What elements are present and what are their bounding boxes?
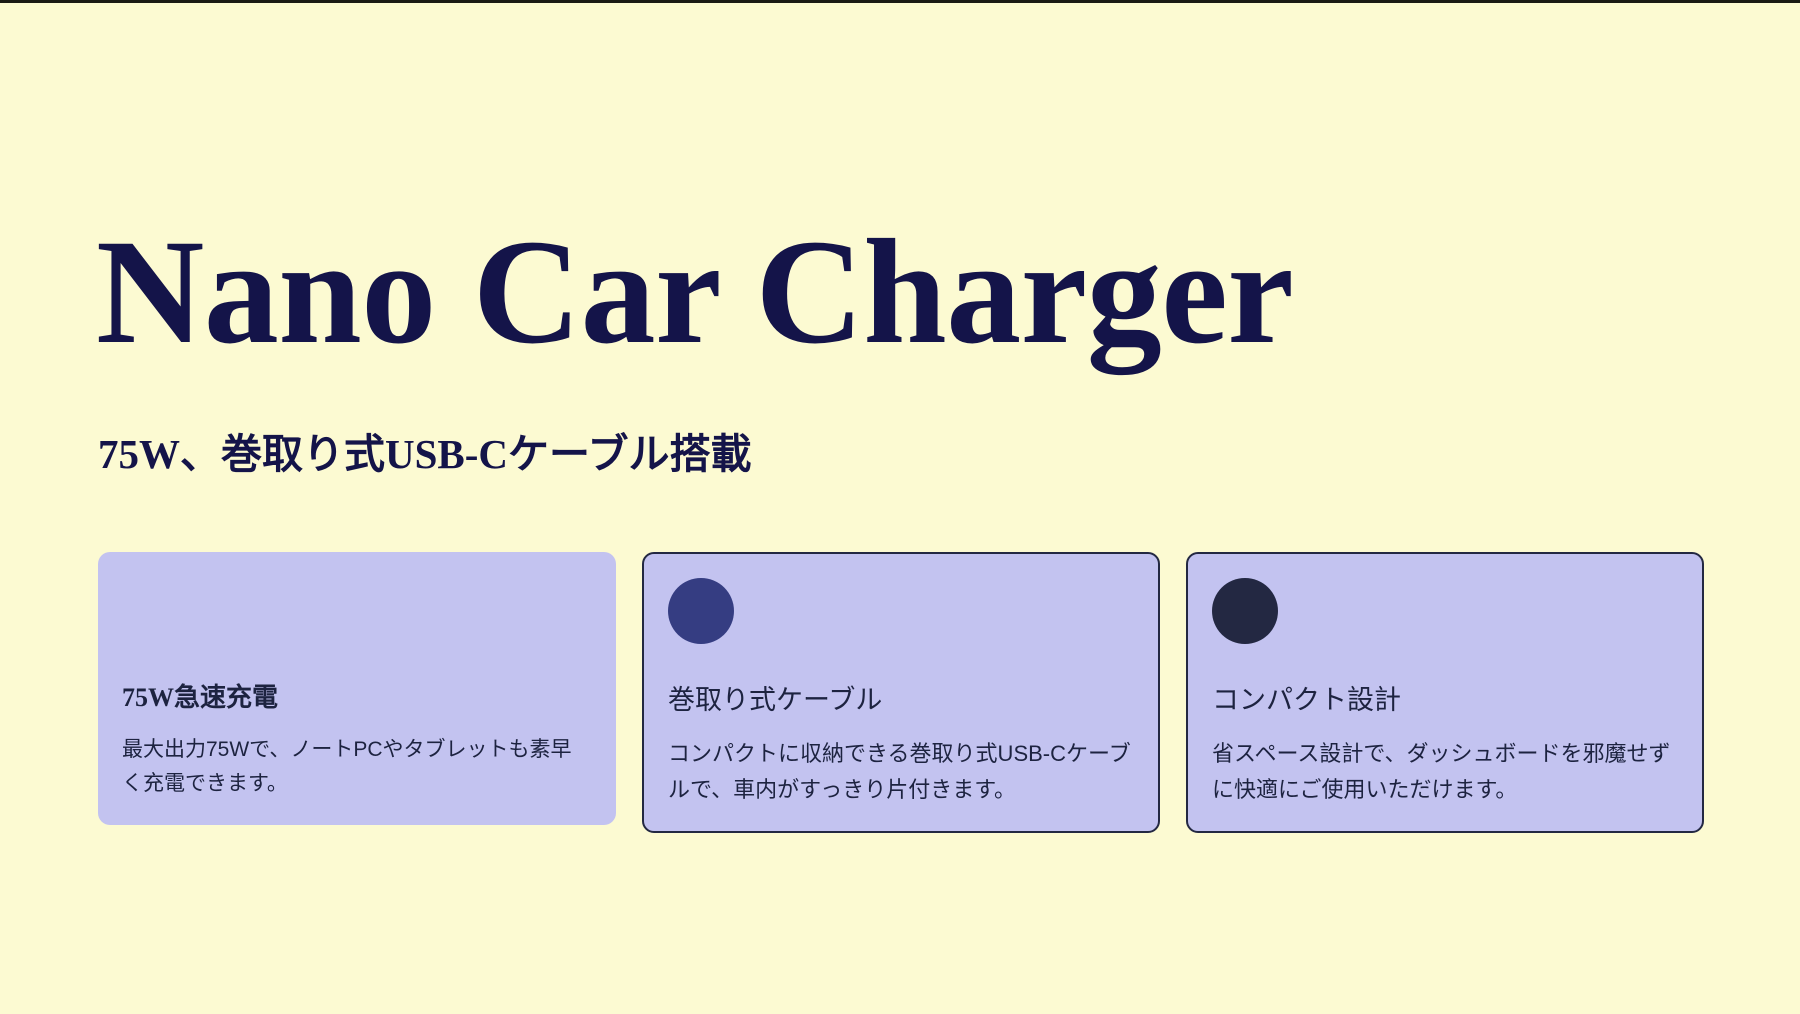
- feature-card-title: 巻取り式ケーブル: [668, 683, 1134, 718]
- feature-card-description: コンパクトに収納できる巻取り式USB-Cケーブルで、車内がすっきり片付きます。: [668, 736, 1134, 807]
- circle-icon: [1212, 578, 1278, 644]
- circle-icon: [668, 578, 734, 644]
- feature-card-title: コンパクト設計: [1212, 683, 1678, 718]
- page-title: Nano Car Charger: [96, 217, 1293, 367]
- feature-card-title: 75W急速充電: [122, 681, 592, 715]
- feature-card-list: 75W急速充電 最大出力75Wで、ノートPCやタブレットも素早く充電できます。 …: [98, 552, 1704, 833]
- feature-card-fast-charging[interactable]: 75W急速充電 最大出力75Wで、ノートPCやタブレットも素早く充電できます。: [98, 552, 616, 825]
- product-landing-page: Nano Car Charger 75W、巻取り式USB-Cケーブル搭載 75W…: [0, 3, 1800, 1014]
- feature-card-description: 省スペース設計で、ダッシュボードを邪魔せずに快適にご使用いただけます。: [1212, 736, 1678, 807]
- icon-placeholder: [122, 576, 592, 645]
- feature-card-compact-design[interactable]: コンパクト設計 省スペース設計で、ダッシュボードを邪魔せずに快適にご使用いただけ…: [1186, 552, 1704, 833]
- page-subtitle: 75W、巻取り式USB-Cケーブル搭載: [98, 429, 752, 480]
- feature-card-description: 最大出力75Wで、ノートPCやタブレットも素早く充電できます。: [122, 733, 592, 801]
- feature-card-retractable-cable[interactable]: 巻取り式ケーブル コンパクトに収納できる巻取り式USB-Cケーブルで、車内がすっ…: [642, 552, 1160, 833]
